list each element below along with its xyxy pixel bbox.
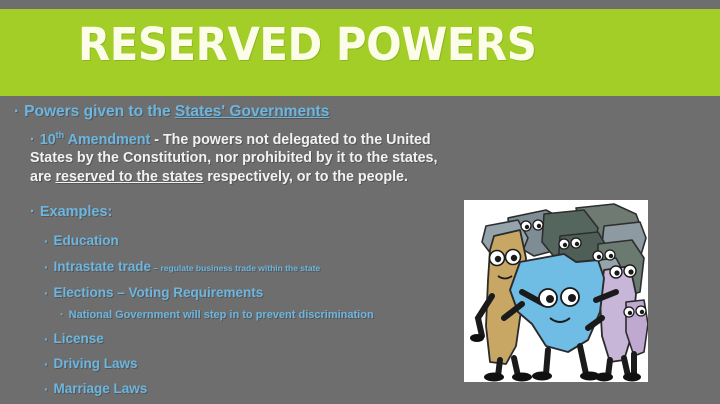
example-marriage-laws: ·Marriage Laws <box>44 381 147 396</box>
example-education-label: Education <box>54 233 119 248</box>
example-intrastate-trade-note: regulate business trade within the state <box>161 263 321 273</box>
example-elections-subnote: ·National Government will step in to pre… <box>60 309 374 321</box>
example-intrastate-trade-dash: – <box>151 263 160 273</box>
bullet-marker: · <box>60 310 64 321</box>
bullet-examples-label: Examples: <box>40 204 113 220</box>
bullet-powers-given-label: Powers given to the <box>24 103 175 120</box>
amendment-ordinal-suffix: th <box>56 130 65 140</box>
example-elections-subnote-label: National Government will step in to prev… <box>69 309 374 321</box>
example-education: ·Education <box>44 233 119 248</box>
bullet-marker: · <box>30 205 35 220</box>
example-license: ·License <box>44 331 104 346</box>
example-license-label: License <box>54 331 104 346</box>
page-title: RESERVED POWERS <box>78 20 536 70</box>
bullet-marker: · <box>14 104 19 120</box>
example-intrastate-trade-label: Intrastate trade <box>54 259 152 274</box>
bullet-marker: · <box>44 287 49 301</box>
example-driving-laws-label: Driving Laws <box>54 356 138 371</box>
amendment-text-underlined: reserved to the states <box>55 169 203 185</box>
bullet-powers-given-underlined: States' Governments <box>175 103 329 120</box>
bullet-marker: · <box>44 358 49 372</box>
bullet-marker: · <box>30 133 35 147</box>
example-intrastate-trade: ·Intrastate trade – regulate business tr… <box>44 259 320 274</box>
example-driving-laws: ·Driving Laws <box>44 356 138 371</box>
bullet-marker: · <box>44 333 49 347</box>
bullet-marker: · <box>44 261 49 275</box>
example-marriage-laws-label: Marriage Laws <box>54 381 148 396</box>
amendment-label: Amendment <box>64 132 150 148</box>
bullet-examples: ·Examples: <box>30 204 112 220</box>
bullet-marker: · <box>44 235 49 249</box>
slide: RESERVED POWERS ·Powers given to the Sta… <box>0 0 720 404</box>
bullet-tenth-amendment: ·10th Amendment - The powers not delegat… <box>30 126 460 186</box>
amendment-text-part2: respectively, or to the people. <box>203 169 408 185</box>
states-cartoon-image <box>464 200 648 382</box>
example-elections-label: Elections – Voting Requirements <box>54 285 264 300</box>
amendment-dash: - <box>150 132 163 148</box>
bullet-marker: · <box>44 383 49 397</box>
example-elections: ·Elections – Voting Requirements <box>44 285 263 300</box>
bullet-powers-given: ·Powers given to the States' Governments <box>14 103 329 121</box>
amendment-number: 10 <box>40 132 56 148</box>
